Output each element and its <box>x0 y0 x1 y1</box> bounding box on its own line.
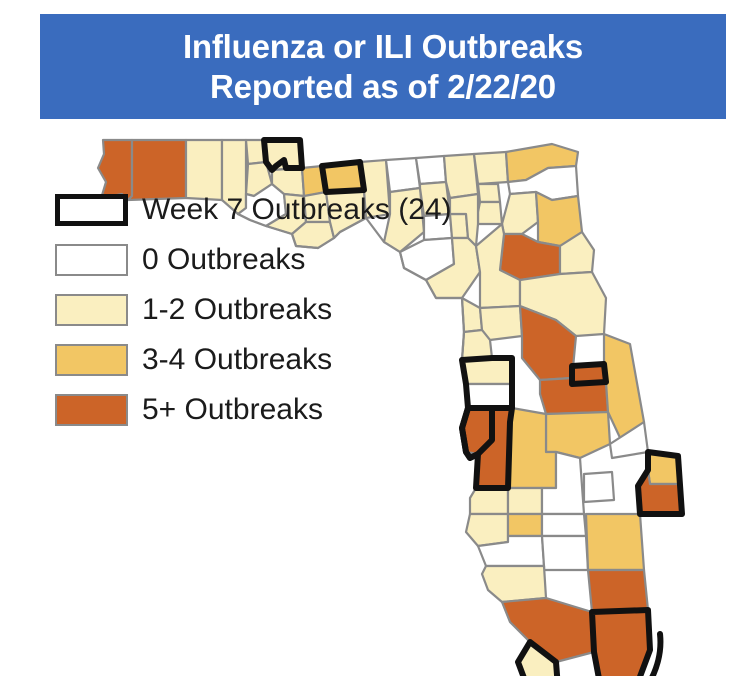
legend-label-week7: Week 7 Outbreaks (24) <box>142 195 452 225</box>
county-okeechobee <box>584 472 614 502</box>
county-lee <box>482 566 546 602</box>
legend-item-1-2[interactable]: 1-2 Outbreaks <box>55 285 455 335</box>
county-broward <box>588 570 648 612</box>
legend-item-week7[interactable]: Week 7 Outbreaks (24) <box>55 185 455 235</box>
county-union <box>478 184 500 202</box>
page-title-line-2: Reported as of 2/22/20 <box>210 67 556 107</box>
county-hamilton <box>416 156 446 184</box>
county-sarasota <box>466 514 508 546</box>
legend-label-5plus: 5+ Outbreaks <box>142 395 323 425</box>
page-title-line-1: Influenza or ILI Outbreaks <box>183 27 583 67</box>
county-hardee <box>508 488 542 514</box>
county-glades <box>542 514 586 536</box>
legend-item-5plus[interactable]: 5+ Outbreaks <box>55 385 455 435</box>
legend-label-zero: 0 Outbreaks <box>142 245 305 275</box>
county-desoto <box>508 514 542 536</box>
legend-swatch-1-2 <box>55 294 128 326</box>
county-palm-beach <box>586 514 644 570</box>
county-clay <box>502 192 538 234</box>
legend-label-3-4: 3-4 Outbreaks <box>142 345 332 375</box>
county-hendry <box>542 536 588 570</box>
county-bradford <box>478 202 502 224</box>
legend-swatch-3-4 <box>55 344 128 376</box>
legend-swatch-week7 <box>55 194 128 226</box>
legend-item-3-4[interactable]: 3-4 Outbreaks <box>55 335 455 385</box>
legend-swatch-zero <box>55 244 128 276</box>
map-legend: Week 7 Outbreaks (24) 0 Outbreaks 1-2 Ou… <box>55 185 455 435</box>
county-manatee <box>470 488 508 514</box>
county-baker <box>474 152 508 184</box>
title-banner: Influenza or ILI Outbreaks Reported as o… <box>40 14 726 119</box>
legend-swatch-5plus <box>55 394 128 426</box>
legend-item-zero[interactable]: 0 Outbreaks <box>55 235 455 285</box>
legend-label-1-2: 1-2 Outbreaks <box>142 295 332 325</box>
county-pasco-south <box>466 384 512 408</box>
